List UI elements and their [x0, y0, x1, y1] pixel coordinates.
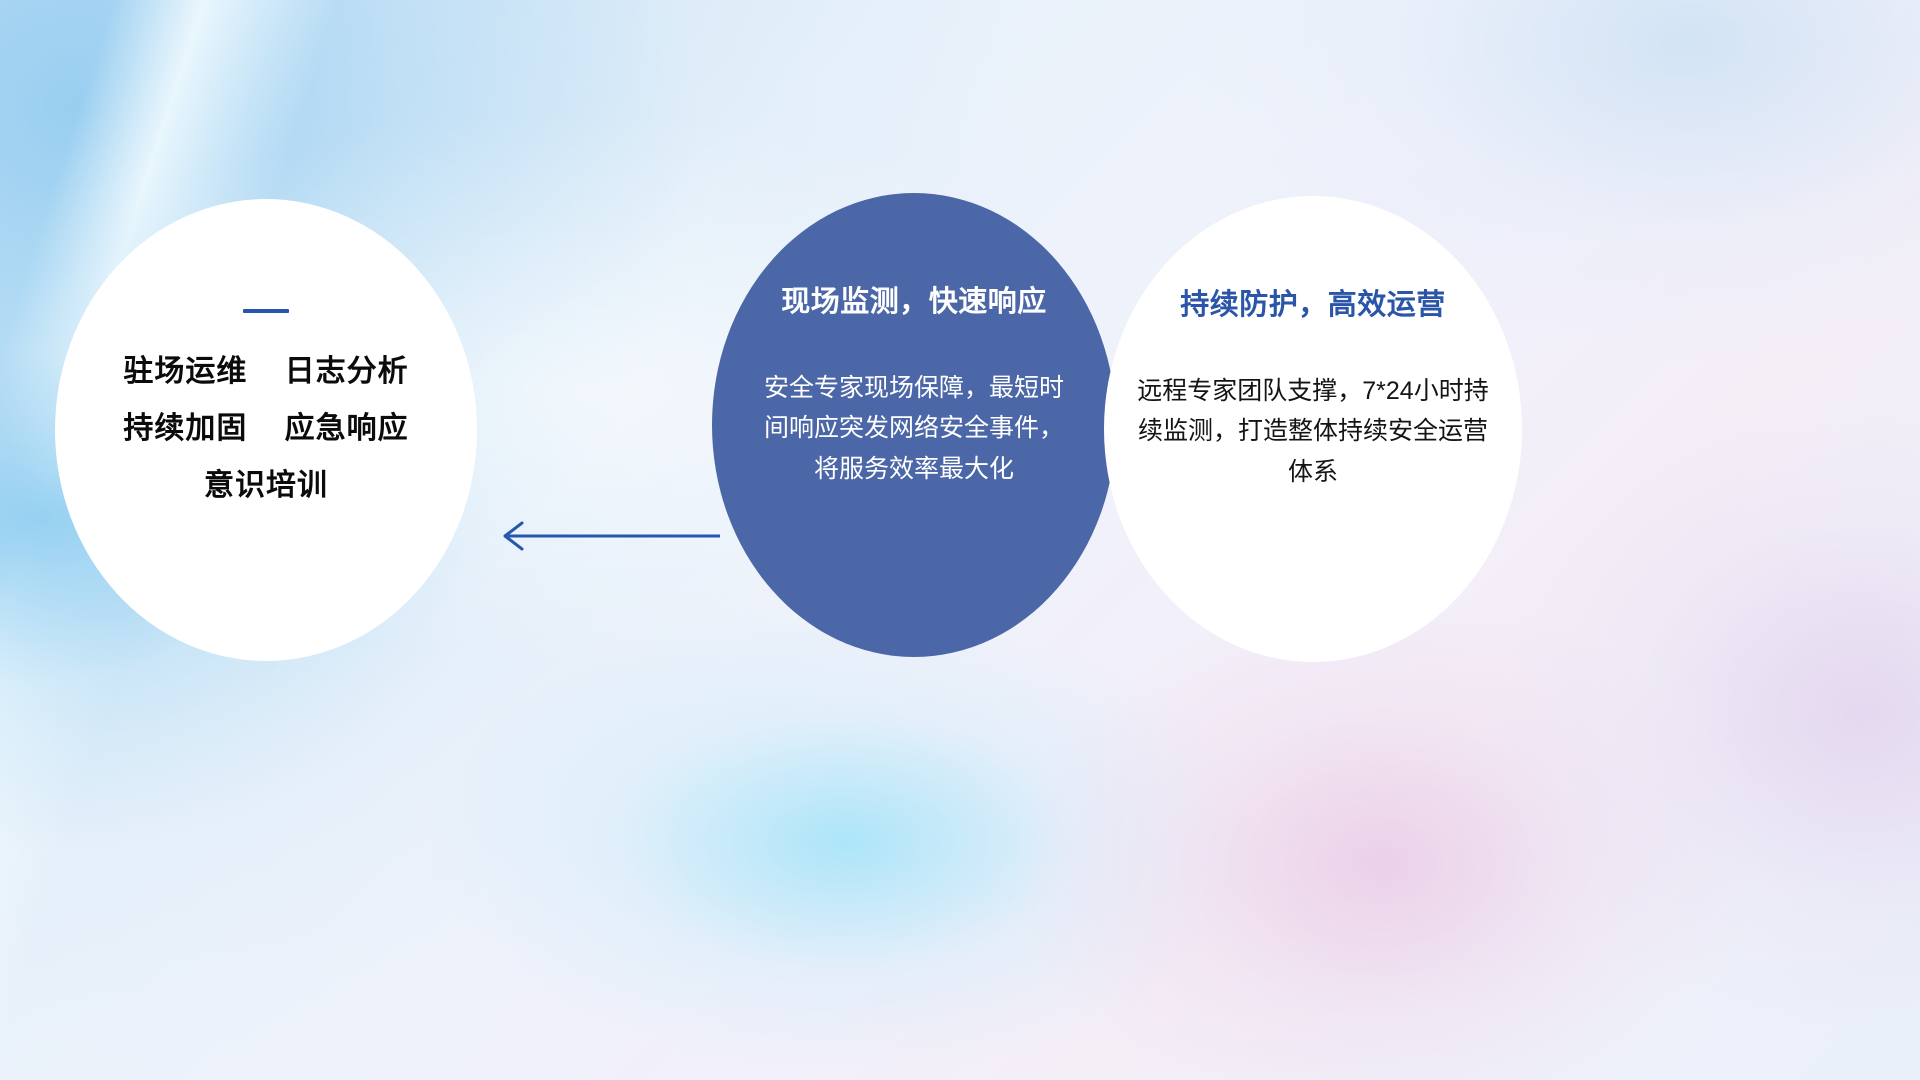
right-circle-body: 远程专家团队支撑，7*24小时持续监测，打造整体持续安全运营体系 — [1137, 371, 1489, 493]
slide-canvas: 驻场运维 日志分析 持续加固 应急响应 意识培训 现场监测，快速响应 安全专家现… — [0, 0, 1920, 1080]
middle-circle-body: 安全专家现场保障，最短时间响应突发网络安全事件，将服务效率最大化 — [754, 368, 1074, 490]
title-divider-dash — [243, 309, 289, 313]
capability-line-3: 意识培训 — [204, 469, 328, 502]
left-arrow-icon — [492, 514, 722, 558]
capability-line-1: 驻场运维 日志分析 — [123, 355, 408, 388]
capability-circle-left[interactable]: 驻场运维 日志分析 持续加固 应急响应 意识培训 — [55, 199, 477, 661]
capability-list: 驻场运维 日志分析 持续加固 应急响应 意识培训 — [123, 355, 408, 502]
right-circle-title: 持续防护，高效运营 — [1180, 288, 1446, 323]
capability-circle-middle[interactable]: 现场监测，快速响应 安全专家现场保障，最短时间响应突发网络安全事件，将服务效率最… — [712, 193, 1116, 657]
middle-circle-title: 现场监测，快速响应 — [781, 285, 1047, 320]
flow-arrow — [492, 514, 722, 558]
capability-line-2: 持续加固 应急响应 — [123, 412, 408, 445]
capability-circle-right[interactable]: 持续防护，高效运营 远程专家团队支撑，7*24小时持续监测，打造整体持续安全运营… — [1104, 196, 1522, 662]
